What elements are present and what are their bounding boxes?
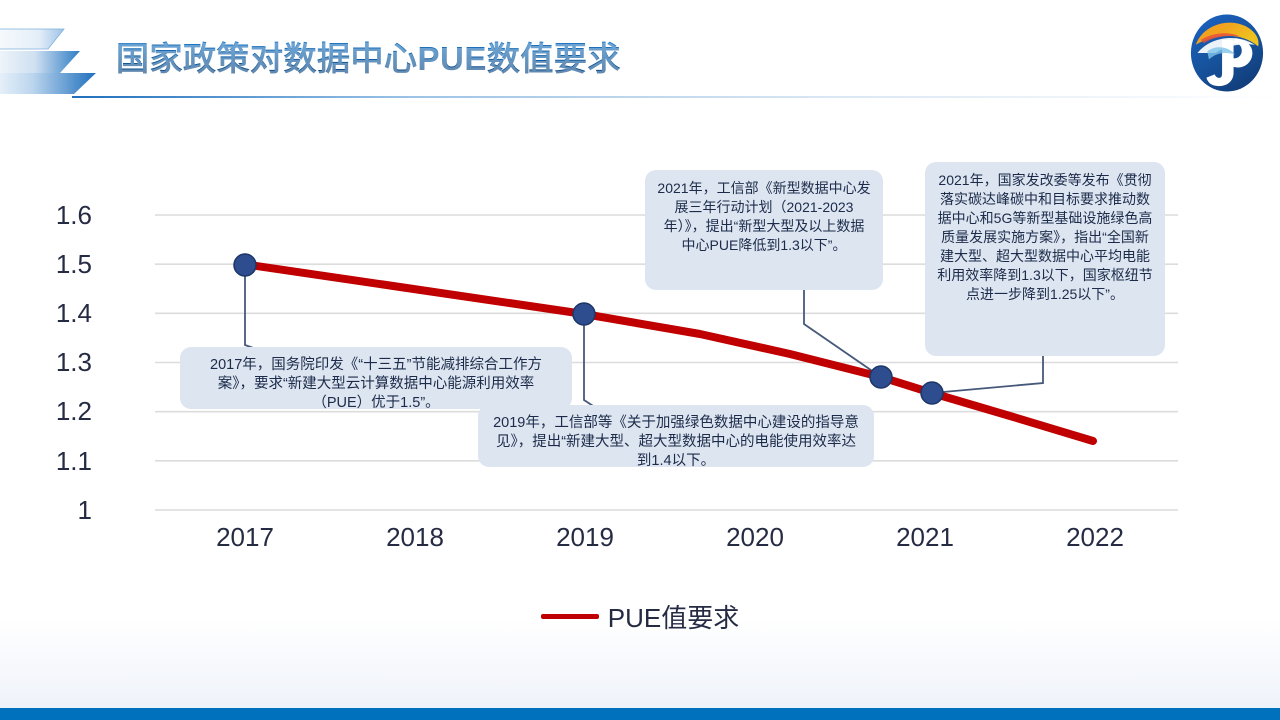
pue-line-chart: 1.6 1.5 1.4 1.3 1.2 1.1 1 2017 2018 2019… [0, 100, 1280, 660]
legend-swatch-pue [541, 614, 599, 619]
marker-2017 [234, 254, 256, 276]
y-tick-1: 1 [32, 495, 92, 526]
x-tick-2018: 2018 [345, 522, 485, 553]
slide-root: 国家政策对数据中心PUE数值要求 [0, 0, 1280, 720]
legend-label-pue: PUE值要求 [608, 598, 739, 635]
x-tick-2019: 2019 [515, 522, 655, 553]
y-tick-1-5: 1.5 [32, 249, 92, 280]
footer-bar [0, 708, 1280, 720]
marker-2020-9 [870, 366, 892, 388]
header-parallelogram-decoration [0, 27, 112, 95]
x-tick-2020: 2020 [685, 522, 825, 553]
y-tick-1-2: 1.2 [32, 396, 92, 427]
page-title: 国家政策对数据中心PUE数值要求 [116, 32, 621, 80]
marker-2019 [573, 303, 595, 325]
callout-2019: 2019年，工信部等《关于加强绿色数据中心建设的指导意见》，提出“新建大型、超大… [478, 405, 874, 467]
y-tick-1-3: 1.3 [32, 347, 92, 378]
x-tick-2022: 2022 [1025, 522, 1165, 553]
callout-2021-ndrc: 2021年，国家发改委等发布《贯彻落实碳达峰碳中和目标要求推动数据中心和5G等新… [925, 162, 1165, 356]
y-tick-1-4: 1.4 [32, 298, 92, 329]
header-divider [72, 96, 1280, 98]
company-logo [1186, 12, 1268, 94]
chart-legend: PUE值要求 [0, 598, 1280, 635]
callout-2021-miit: 2021年，工信部《新型数据中心发展三年行动计划（2021-2023年）》，提出… [645, 170, 883, 290]
slide-header: 国家政策对数据中心PUE数值要求 [0, 0, 1280, 100]
x-tick-2021: 2021 [855, 522, 995, 553]
y-tick-1-6: 1.6 [32, 200, 92, 231]
marker-2021-1 [921, 382, 943, 404]
y-tick-1-1: 1.1 [32, 446, 92, 477]
x-tick-2017: 2017 [175, 522, 315, 553]
callout-2017: 2017年，国务院印发《“十三五”节能减排综合工作方案》，要求“新建大型云计算数… [180, 347, 572, 409]
